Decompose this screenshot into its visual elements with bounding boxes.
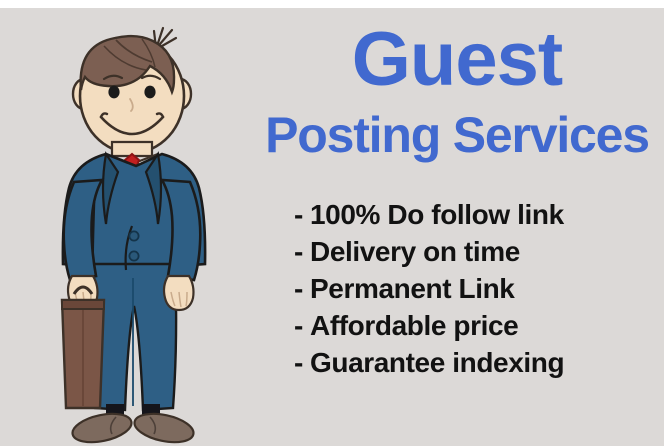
list-item: -100% Do follow link xyxy=(294,196,664,233)
bullet-dash: - xyxy=(294,307,310,344)
businessman-illustration xyxy=(30,4,260,446)
page-subtitle: Posting Services xyxy=(250,106,664,164)
right-shoe xyxy=(132,409,196,446)
text-column: Guest Posting Services -100% Do follow l… xyxy=(250,0,664,446)
right-eye xyxy=(144,86,155,99)
list-item-label: Affordable price xyxy=(310,310,518,341)
list-item: -Guarantee indexing xyxy=(294,344,664,381)
left-eye xyxy=(108,86,119,99)
list-item: -Permanent Link xyxy=(294,270,664,307)
page-title: Guest xyxy=(250,18,664,102)
list-item: -Delivery on time xyxy=(294,233,664,270)
guest-posting-services-banner: Guest Posting Services -100% Do follow l… xyxy=(0,0,664,446)
list-item-label: Guarantee indexing xyxy=(310,347,564,378)
bullet-dash: - xyxy=(294,344,310,381)
bullet-dash: - xyxy=(294,233,310,270)
bullet-dash: - xyxy=(294,270,310,307)
feature-list: -100% Do follow link -Delivery on time -… xyxy=(294,196,664,381)
list-item-label: Delivery on time xyxy=(310,236,520,267)
list-item-label: Permanent Link xyxy=(310,273,514,304)
briefcase-clasp-bar xyxy=(62,300,104,309)
jacket-button-upper xyxy=(129,231,138,240)
businessman-svg xyxy=(30,4,260,446)
list-item-label: 100% Do follow link xyxy=(310,199,564,230)
bullet-dash: - xyxy=(294,196,310,233)
jacket-button-lower xyxy=(129,251,138,260)
list-item: -Affordable price xyxy=(294,307,664,344)
trousers xyxy=(92,262,176,410)
left-shoe xyxy=(70,409,134,446)
